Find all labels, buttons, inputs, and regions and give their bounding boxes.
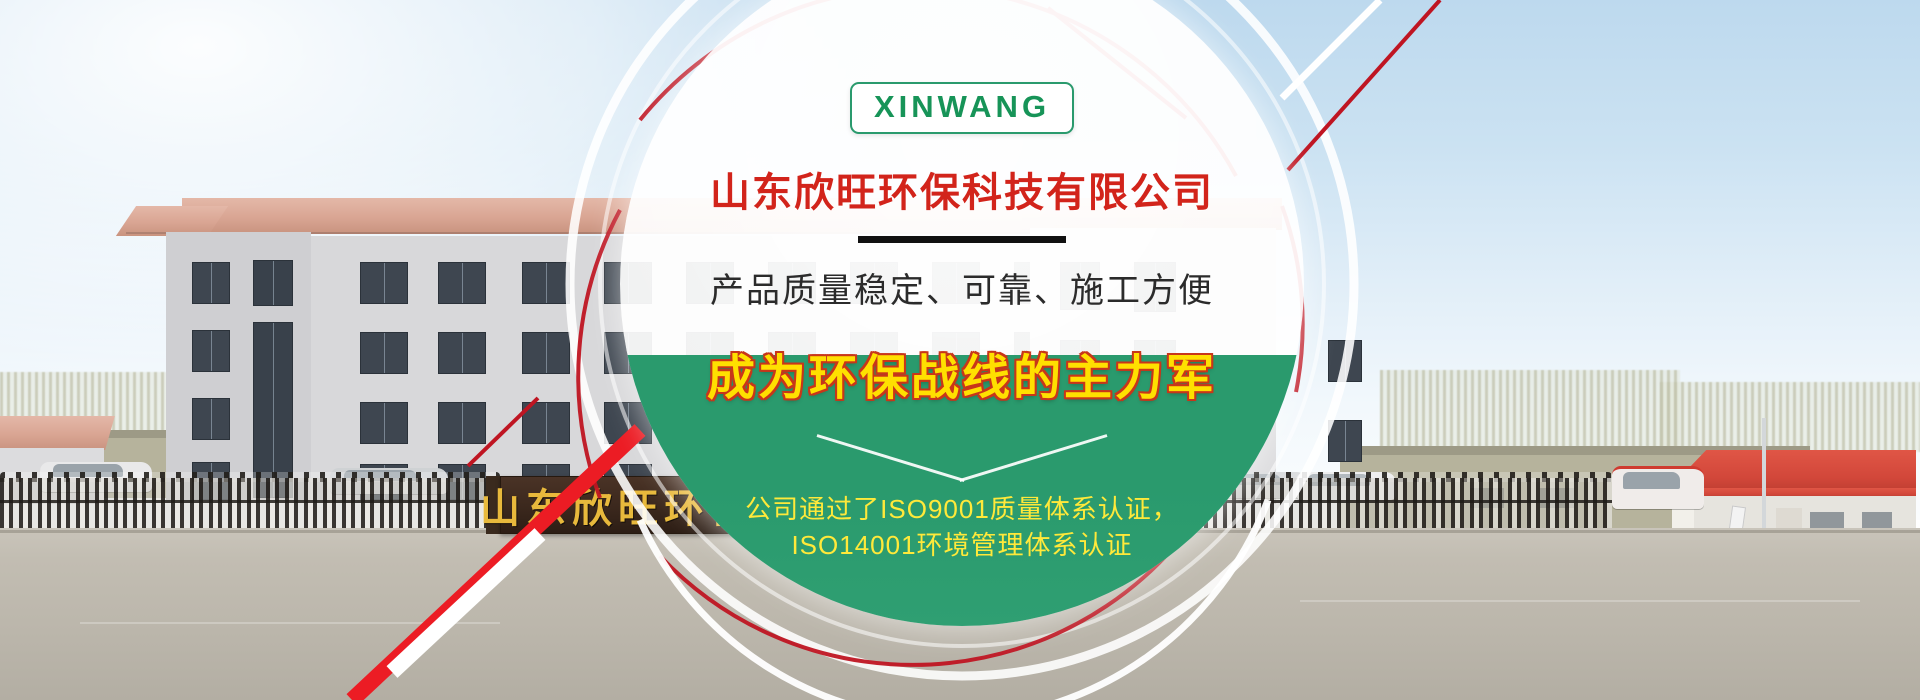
diagonal-accent-red-thin	[468, 398, 538, 466]
diagonal-accent-white-thick	[392, 534, 540, 672]
chevron-down-icon	[821, 434, 1103, 478]
chevron-left-stroke	[817, 434, 965, 482]
certification-text: 公司通过了ISO9001质量体系认证， ISO14001环境管理体系认证	[620, 492, 1304, 564]
certification-line-2: ISO14001环境管理体系认证	[620, 528, 1304, 564]
certification-line-1: 公司通过了ISO9001质量体系认证，	[620, 492, 1304, 528]
banner-content: XINWANG 山东欣旺环保科技有限公司 产品质量稳定、可靠、施工方便 成为环保…	[620, 0, 1304, 700]
divider	[858, 236, 1066, 243]
banner-stage: 山东欣旺环保科技有限公司 XINWANG 山东欣旺环保科技有限公司 产品质	[0, 0, 1920, 700]
diagonal-accent-red	[1288, 0, 1440, 170]
tagline: 产品质量稳定、可靠、施工方便	[620, 263, 1304, 312]
slogan: 成为环保战线的主力军	[620, 338, 1304, 408]
company-name: 山东欣旺环保科技有限公司	[620, 160, 1304, 218]
brand-badge[interactable]: XINWANG	[850, 82, 1074, 134]
chevron-right-stroke	[959, 434, 1107, 482]
